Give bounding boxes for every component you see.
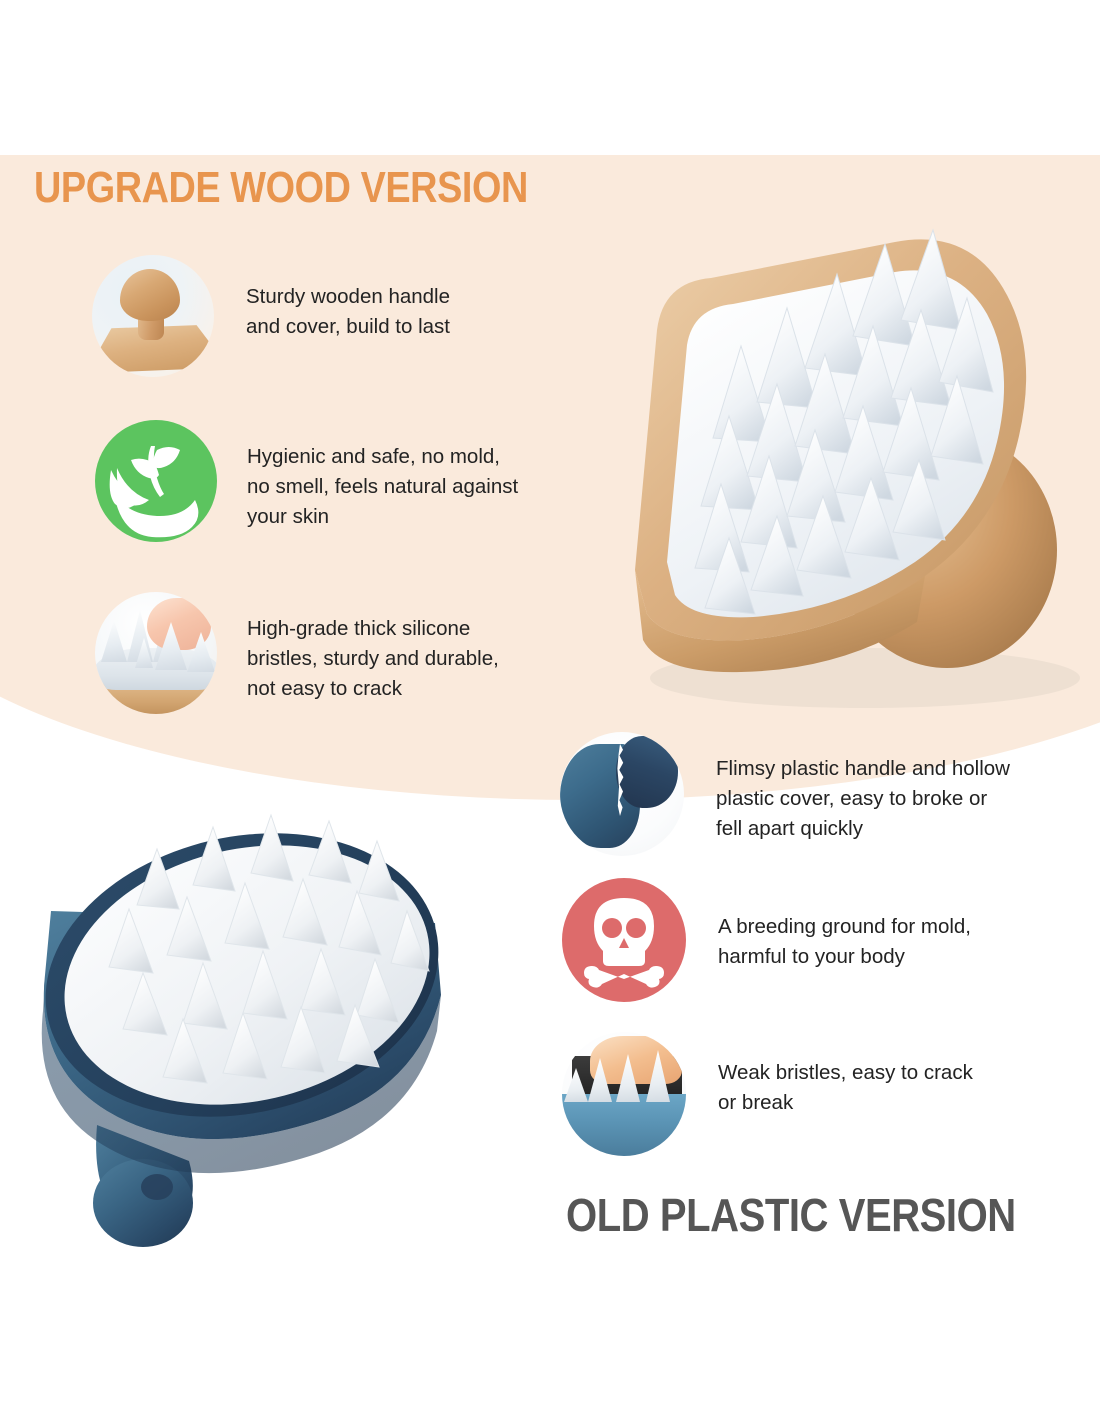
eco-leaf-hand-icon <box>95 420 217 542</box>
feature-hygienic-text: Hygienic and safe, no mold, no smell, fe… <box>247 442 518 532</box>
feature-wooden-handle: Sturdy wooden handle and cover, build to… <box>92 255 612 377</box>
product-comparison-infographic: UPGRADE WOOD VERSION Sturdy wooden handl… <box>0 0 1100 1422</box>
wooden-brush-product-photo <box>595 170 1095 715</box>
blue-plastic-brush-product-photo <box>25 795 475 1250</box>
feature-hygienic: Hygienic and safe, no mold, no smell, fe… <box>95 420 615 542</box>
feature-silicone-bristles-text: High-grade thick silicone bristles, stur… <box>247 614 499 704</box>
feature-mold-warning: A breeding ground for mold, harmful to y… <box>562 878 1082 1002</box>
skull-and-crossbones-icon <box>562 878 686 1002</box>
old-version-title: OLD PLASTIC VERSION <box>566 1188 1016 1242</box>
feature-silicone-bristles: High-grade thick silicone bristles, stur… <box>95 592 615 714</box>
wooden-handle-photo-icon <box>92 255 214 377</box>
feature-flimsy-handle: Flimsy plastic handle and hollow plastic… <box>560 732 1080 856</box>
upgrade-version-title: UPGRADE WOOD VERSION <box>34 163 528 213</box>
weak-bristles-photo-icon <box>562 1032 686 1156</box>
feature-weak-bristles: Weak bristles, easy to crack or break <box>562 1032 1082 1156</box>
feature-mold-warning-text: A breeding ground for mold, harmful to y… <box>718 912 971 972</box>
feature-flimsy-handle-text: Flimsy plastic handle and hollow plastic… <box>716 754 1010 844</box>
silicone-bristle-photo-icon <box>95 592 217 714</box>
feature-weak-bristles-text: Weak bristles, easy to crack or break <box>718 1058 973 1118</box>
feature-wooden-handle-text: Sturdy wooden handle and cover, build to… <box>246 282 450 342</box>
broken-plastic-handle-photo-icon <box>560 732 684 856</box>
